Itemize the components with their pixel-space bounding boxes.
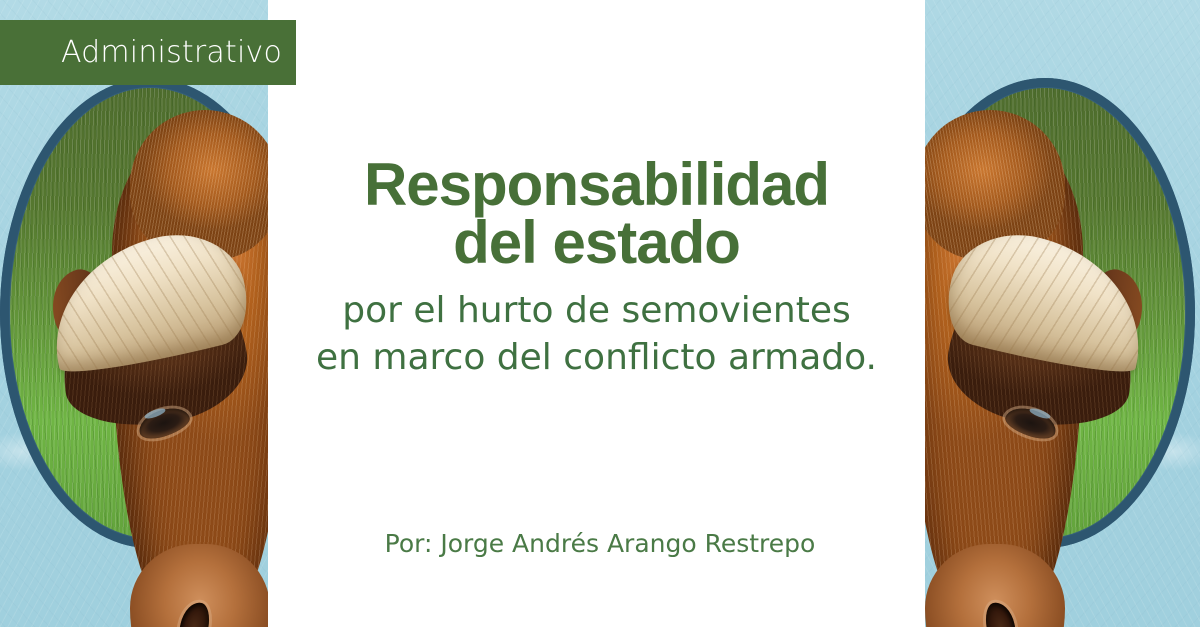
category-badge[interactable]: Administrativo xyxy=(0,20,296,85)
article-subtitle: por el hurto de semovientes en marco del… xyxy=(316,288,877,382)
article-title: Responsabilidad del estado xyxy=(364,156,829,271)
category-badge-label: Administrativo xyxy=(61,38,282,68)
article-byline: Por: Jorge Andrés Arango Restrepo xyxy=(0,529,1200,558)
article-banner: Responsabilidad del estado por el hurto … xyxy=(0,0,1200,627)
